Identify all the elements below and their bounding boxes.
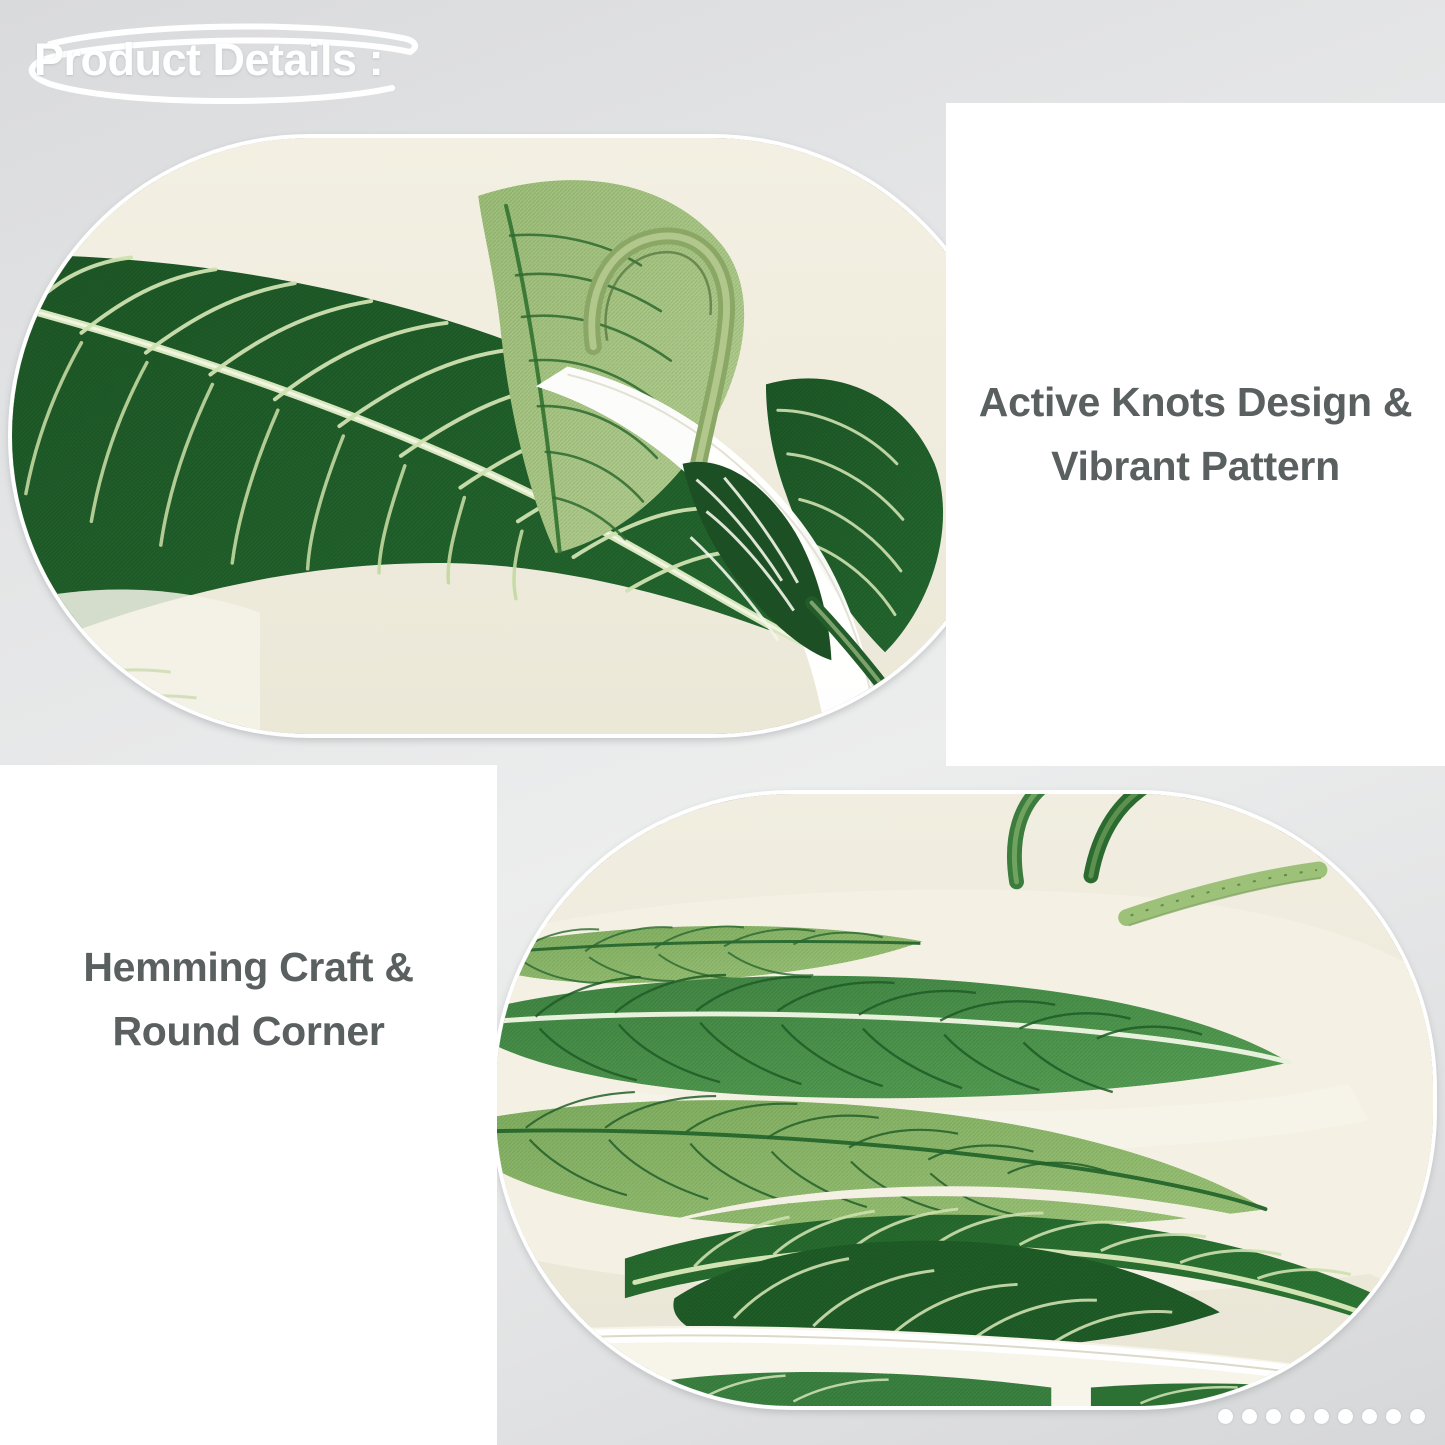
caption-line-2: Vibrant Pattern — [1051, 443, 1340, 489]
feature-caption-knots: Active Knots Design & Vibrant Pattern — [976, 371, 1416, 498]
feature-caption-card-knots: Active Knots Design & Vibrant Pattern — [946, 103, 1445, 766]
pagination-dot[interactable] — [1338, 1409, 1353, 1424]
pagination-dot[interactable] — [1290, 1409, 1305, 1424]
pagination-dot[interactable] — [1218, 1409, 1233, 1424]
page-title: Product Details : — [34, 34, 383, 86]
pagination-dot[interactable] — [1410, 1409, 1425, 1424]
caption-line-2: Round Corner — [113, 1008, 385, 1054]
caption-line-1: Hemming Craft & — [83, 944, 413, 990]
feature-photo-hemming — [492, 790, 1437, 1410]
pagination-dot[interactable] — [1242, 1409, 1257, 1424]
caption-line-1: Active Knots Design & — [979, 379, 1412, 425]
cushion-tie-closeup-image — [12, 138, 1009, 734]
pagination-dots[interactable] — [1218, 1409, 1425, 1424]
leaf-pattern-artwork-top — [12, 138, 1009, 734]
pagination-dot[interactable] — [1362, 1409, 1377, 1424]
feature-caption-card-hemming: Hemming Craft & Round Corner — [0, 765, 497, 1445]
leaf-pattern-artwork-bottom — [496, 794, 1433, 1406]
feature-photo-knots — [8, 134, 1013, 738]
infographic-canvas: Active Knots Design & Vibrant Pattern He… — [0, 0, 1445, 1445]
pagination-dot[interactable] — [1314, 1409, 1329, 1424]
pagination-dot[interactable] — [1386, 1409, 1401, 1424]
cushion-corner-closeup-image — [496, 794, 1433, 1406]
pagination-dot[interactable] — [1266, 1409, 1281, 1424]
feature-caption-hemming: Hemming Craft & Round Corner — [29, 936, 469, 1063]
page-header: Product Details : — [0, 0, 640, 120]
